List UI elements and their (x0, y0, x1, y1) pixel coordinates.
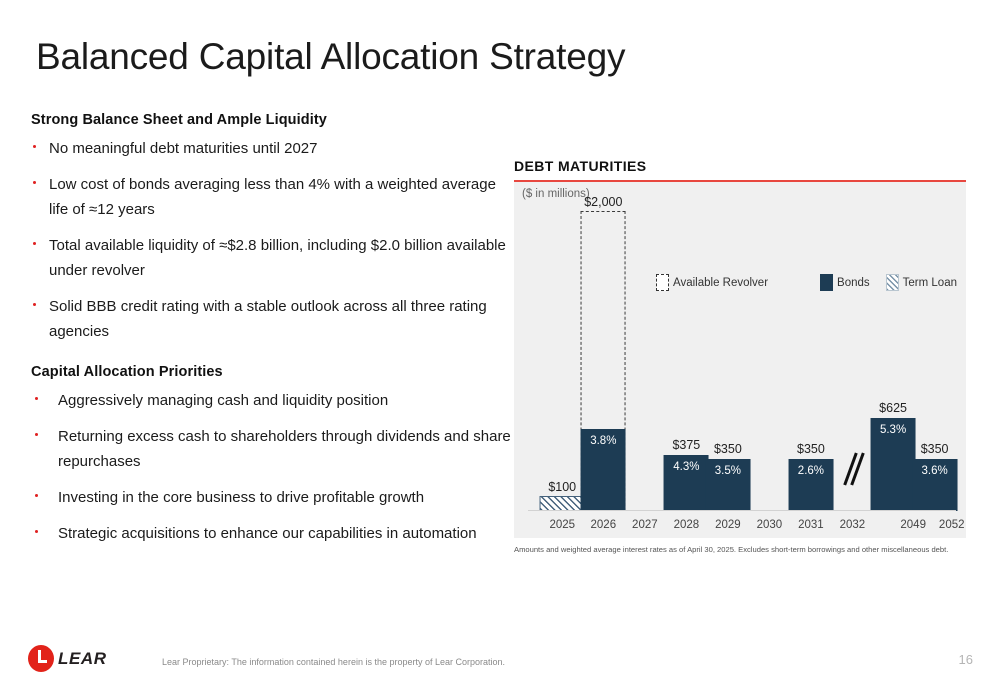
bar-value-label: $100 (548, 480, 576, 494)
section-heading-liquidity: Strong Balance Sheet and Ample Liquidity (31, 112, 517, 128)
x-tick-2026: 2026 (591, 519, 617, 531)
x-tick-2028: 2028 (674, 519, 700, 531)
x-tick-2052: 2052 (939, 519, 965, 531)
list-item: Investing in the core business to drive … (31, 485, 517, 510)
list-item: Total available liquidity of ≈$2.8 billi… (31, 233, 517, 283)
bullet-dot-icon (35, 433, 38, 436)
bar-rate-label: 3.5% (715, 465, 741, 477)
x-tick-2027: 2027 (632, 519, 658, 531)
bar-bonds-2027[interactable]: 3.8% (581, 429, 626, 511)
bullet-dot-icon (33, 145, 36, 148)
bullet-text: Total available liquidity of ≈$2.8 billi… (49, 237, 506, 279)
x-tick-2029: 2029 (715, 519, 741, 531)
bullet-dot-icon (35, 530, 38, 533)
bullet-dot-icon (33, 181, 36, 184)
proprietary-notice: Lear Proprietary: The information contai… (162, 657, 505, 667)
x-tick-2049: 2049 (900, 519, 926, 531)
bar-bonds-2052[interactable]: $350 3.6% (912, 459, 957, 511)
bullet-dot-icon (33, 303, 36, 306)
x-tick-2030: 2030 (757, 519, 783, 531)
bar-rate-label: 3.8% (590, 435, 616, 447)
page-number: 16 (959, 652, 973, 667)
bullet-text: Investing in the core business to drive … (58, 489, 424, 506)
bar-value-label: $350 (714, 442, 742, 456)
x-tick-2025: 2025 (549, 519, 575, 531)
lear-wordmark: LEAR (58, 649, 107, 669)
bar-value-label: $625 (879, 401, 907, 415)
axis-break-icon (844, 452, 866, 486)
bullet-dot-icon (33, 242, 36, 245)
bar-rate-label: 2.6% (798, 465, 824, 477)
list-item: Strategic acquisitions to enhance our ca… (31, 521, 517, 546)
bar-bonds-2049[interactable]: $625 5.3% (871, 418, 916, 511)
bar-value-label: $350 (797, 442, 825, 456)
chart-bars-layer: $2,000 $550 $100 3.8% $375 4.3% (528, 202, 956, 511)
bar-value-label: $350 (921, 442, 949, 456)
chart-footnote: Amounts and weighted average interest ra… (514, 544, 966, 555)
bullet-dot-icon (35, 494, 38, 497)
lear-logo: LEAR (28, 645, 107, 672)
chart-units-label: ($ in millions) (522, 188, 590, 200)
bar-term-loan-2026[interactable]: $100 (540, 496, 585, 511)
section-heading-priorities: Capital Allocation Priorities (31, 364, 517, 380)
slide-root: Balanced Capital Allocation Strategy Str… (0, 0, 1000, 685)
bar-value-label: $375 (672, 438, 700, 452)
bullet-text: Returning excess cash to shareholders th… (58, 428, 511, 470)
bullet-list-liquidity: No meaningful debt maturities until 2027… (31, 136, 517, 344)
chart-title: DEBT MATURITIES (514, 158, 966, 180)
bullet-text: Solid BBB credit rating with a stable ou… (49, 298, 487, 340)
bullet-dot-icon (35, 397, 38, 400)
bar-rate-label: 5.3% (880, 424, 906, 436)
lear-circle-l-icon (28, 645, 54, 672)
bar-rate-label: 4.3% (673, 461, 699, 473)
x-tick-2032: 2032 (840, 519, 866, 531)
list-item: Returning excess cash to shareholders th… (31, 424, 517, 474)
bullet-text: No meaningful debt maturities until 2027 (49, 140, 318, 157)
x-tick-2031: 2031 (798, 519, 824, 531)
bar-value-label: $2,000 (584, 195, 622, 209)
chart-x-axis: 2025 2026 2027 2028 2029 2030 2031 2032 … (528, 511, 956, 538)
page-title: Balanced Capital Allocation Strategy (36, 36, 625, 78)
bar-rate-label: 3.6% (921, 465, 947, 477)
bullet-text: Low cost of bonds averaging less than 4%… (49, 176, 496, 218)
bullet-text: Strategic acquisitions to enhance our ca… (58, 525, 477, 542)
debt-maturities-panel: DEBT MATURITIES ($ in millions) Availabl… (514, 158, 966, 555)
bar-bonds-2029[interactable]: $375 4.3% (664, 455, 709, 511)
bullet-text: Aggressively managing cash and liquidity… (58, 392, 388, 409)
bar-bonds-2030[interactable]: $350 3.5% (705, 459, 750, 511)
list-item: Solid BBB credit rating with a stable ou… (31, 294, 517, 344)
list-item: Aggressively managing cash and liquidity… (31, 388, 517, 413)
list-item: No meaningful debt maturities until 2027 (31, 136, 517, 161)
list-item: Low cost of bonds averaging less than 4%… (31, 172, 517, 222)
left-content-column: Strong Balance Sheet and Ample Liquidity… (31, 112, 517, 557)
chart-plot-area: ($ in millions) Available Revolver Bonds… (514, 182, 966, 538)
bar-bonds-2032[interactable]: $350 2.6% (788, 459, 833, 511)
bullet-list-priorities: Aggressively managing cash and liquidity… (31, 388, 517, 546)
